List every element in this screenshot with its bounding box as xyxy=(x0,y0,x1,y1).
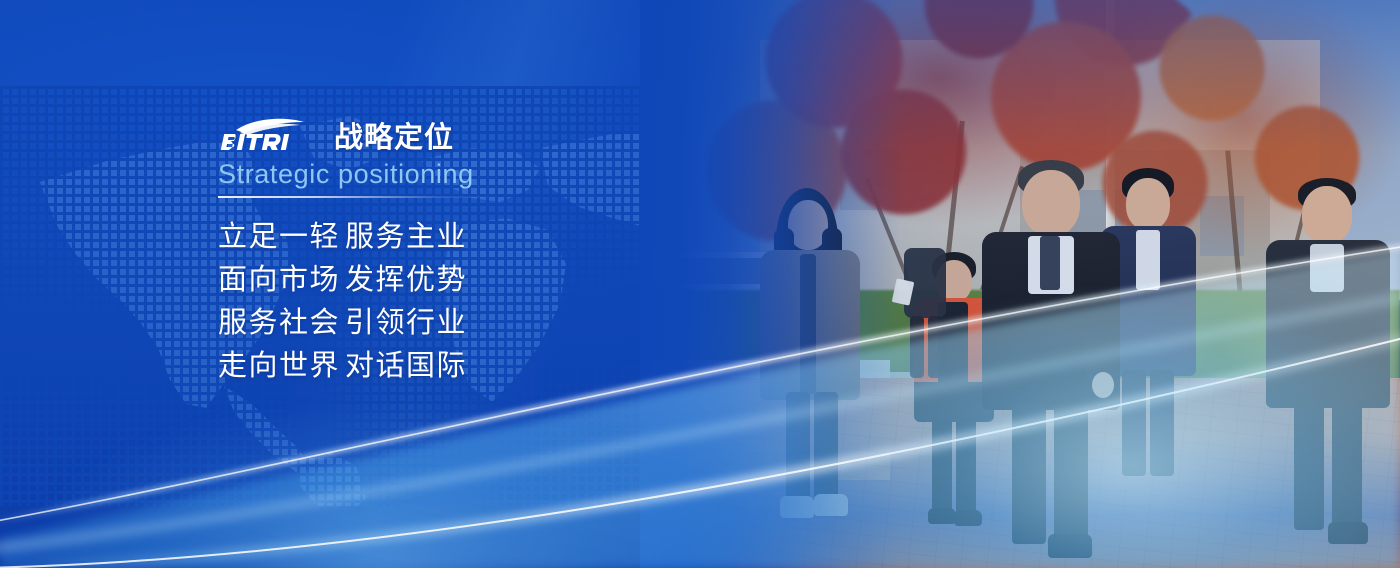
brand-row: 战略定位 xyxy=(218,112,778,154)
bitri-logo xyxy=(218,116,320,154)
slogan-row: 立足一轻 服务主业 xyxy=(218,212,778,255)
slogan-left: 服务社会 xyxy=(218,299,345,341)
divider-line xyxy=(218,196,498,198)
brand-subtitle-en: Strategic positioning xyxy=(218,159,778,189)
slogan-right: 对话国际 xyxy=(345,342,467,384)
strategic-positioning-banner: 战略定位 Strategic positioning 立足一轻 服务主业 面向市… xyxy=(0,0,1400,568)
slogan-right: 引领行业 xyxy=(345,299,467,341)
brand-title-cn: 战略定位 xyxy=(334,122,454,152)
headline-block: 战略定位 Strategic positioning 立足一轻 服务主业 面向市… xyxy=(218,112,778,384)
slogan-left: 立足一轻 xyxy=(218,213,345,255)
slogan-row: 服务社会 引领行业 xyxy=(218,298,778,341)
slogan-right: 发挥优势 xyxy=(345,256,467,298)
slogan-right: 服务主业 xyxy=(345,213,467,255)
slogan-left: 面向市场 xyxy=(218,256,345,298)
slogan-row: 面向市场 发挥优势 xyxy=(218,255,778,298)
slogan-left: 走向世界 xyxy=(218,342,345,384)
slogan-row: 走向世界 对话国际 xyxy=(218,341,778,384)
slogan-list: 立足一轻 服务主业 面向市场 发挥优势 服务社会 引领行业 走向世界 对话国际 xyxy=(218,212,778,384)
